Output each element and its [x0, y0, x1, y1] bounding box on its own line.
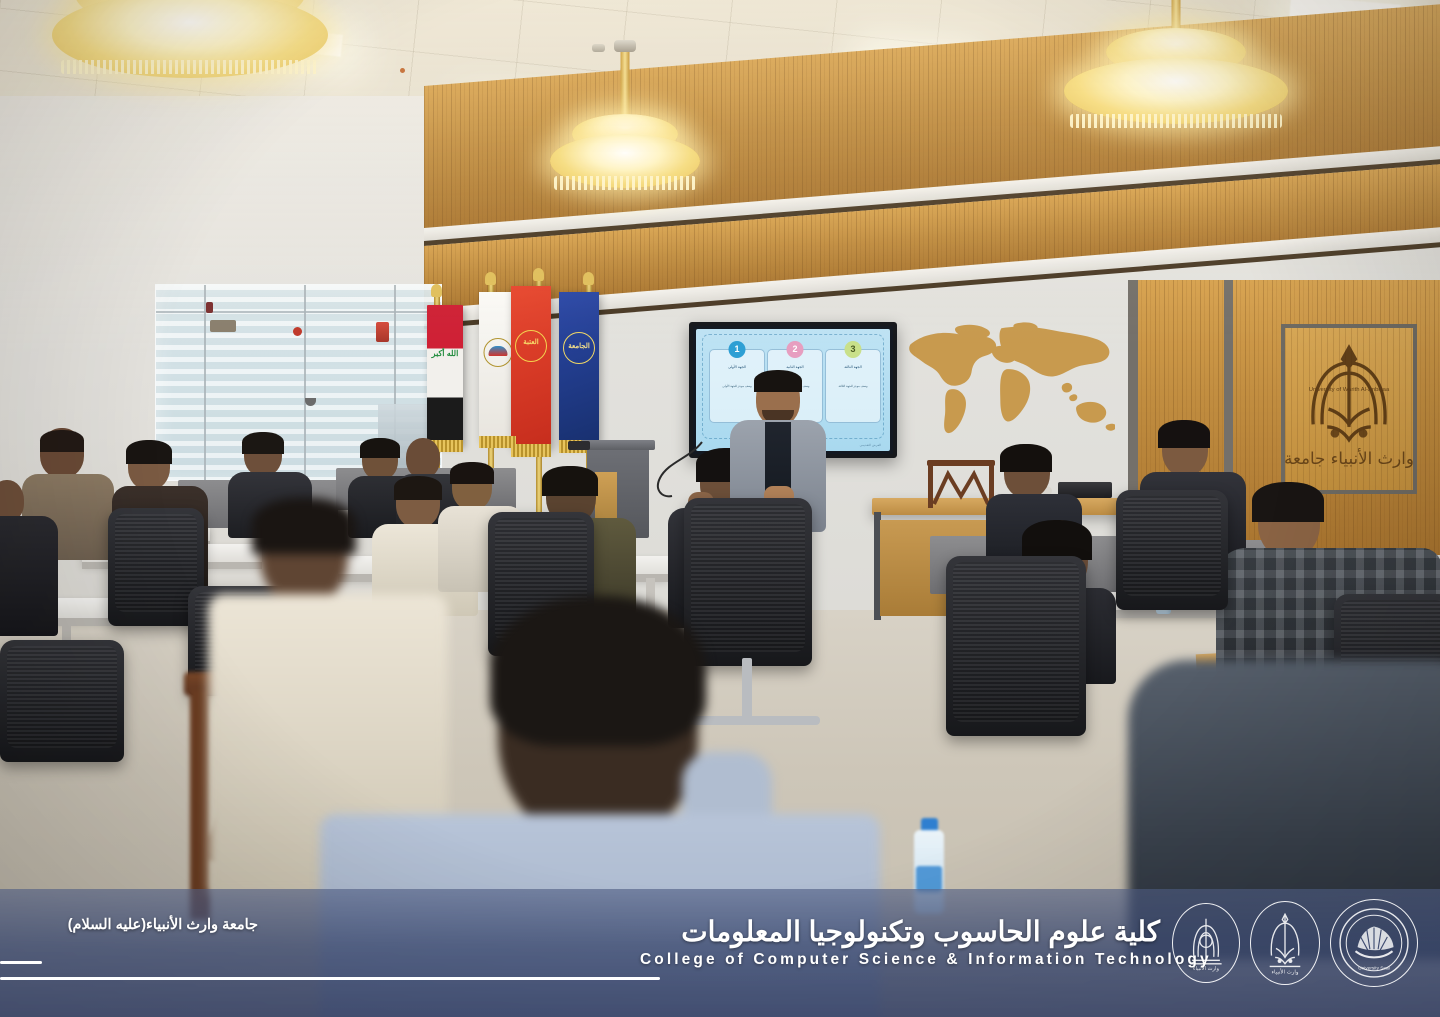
- wooden-chair-head-table: [927, 460, 995, 510]
- blue-university-flag: الجامعة: [559, 292, 599, 444]
- office-chair-left-2: [0, 640, 124, 762]
- flagpole-finial-white: [485, 272, 496, 285]
- chandelier-left: [40, 0, 340, 140]
- fire-alarm-bell-icon: [293, 327, 302, 336]
- chandelier-center: [520, 36, 730, 246]
- seal-2-label: وارث الأنبياء: [1272, 968, 1299, 976]
- slide-card-3-title: الجهة الثالثة: [829, 365, 877, 370]
- footer-banner: جامعة وارث الأنبياء(عليه السلام) كلية عل…: [0, 889, 1440, 1017]
- seal-2-icon: وارث الأنبياء: [1258, 910, 1312, 976]
- seal-1-label: وارث الأنبياء: [1193, 965, 1219, 972]
- smoke-detector-icon: [400, 68, 405, 73]
- fire-alarm-strobe-icon: [206, 302, 213, 313]
- wall-device-box: [210, 320, 236, 332]
- world-map-mural: [900, 322, 1115, 440]
- seal-3-icon: University Seal: [1337, 906, 1411, 980]
- college-name-english: College of Computer Science & Informatio…: [640, 951, 1160, 969]
- flagpole-finial-blue: [583, 272, 594, 285]
- university-emblem-panel: وارث الأنبياء جامعة University of Warith…: [1281, 324, 1417, 494]
- office-chair-right-2: [1116, 490, 1228, 610]
- seal-1-icon: وارث الأنبياء: [1180, 911, 1232, 975]
- glass-mullion-2: [304, 285, 306, 480]
- slide-card-1-title: الجهة الأولى: [713, 365, 761, 370]
- hair: [542, 466, 598, 496]
- office-chair-right-1: [946, 556, 1086, 736]
- hair: [1000, 444, 1052, 472]
- college-name-arabic: كلية علوم الحاسوب وتكنولوجيا المعلومات: [640, 915, 1160, 948]
- chandelier-right: [1026, 0, 1326, 190]
- slide-card-2-badge: 2: [787, 341, 804, 358]
- slide-footer-note: العرض التقديمي: [860, 443, 881, 447]
- chair-mesh: [1123, 496, 1221, 596]
- emblem-latin-text: University of Warith Al-Anbiyaa: [1309, 387, 1390, 393]
- footer-rule-left: [0, 961, 42, 964]
- hair: [252, 498, 356, 554]
- flagpole-finial-iraq: [431, 284, 442, 297]
- emblem-arabic-text: وارث الأنبياء جامعة: [1285, 448, 1413, 468]
- hair: [1158, 420, 1210, 448]
- glass-mullion-1: [204, 285, 206, 480]
- glass-transom-rail: [156, 311, 441, 313]
- footer-seal-2: وارث الأنبياء: [1250, 901, 1320, 985]
- chandelier-canopy: [614, 40, 636, 52]
- presenter-hair: [754, 370, 802, 392]
- hair: [242, 432, 284, 454]
- lectern-microphone-base: [568, 441, 590, 450]
- head: [406, 438, 440, 478]
- chair-mesh: [691, 504, 805, 652]
- seal-3-label: University Seal: [1358, 966, 1389, 972]
- slide-card-3-body: وصف موجز للجهة الثالثة: [829, 384, 877, 389]
- chair-mesh: [115, 514, 197, 612]
- slide-card-3: 3 الجهة الثالثة وصف موجز للجهة الثالثة: [825, 349, 881, 423]
- footer-seal-1: وارث الأنبياء: [1172, 903, 1240, 983]
- chair-mesh: [953, 562, 1079, 722]
- fire-extinguisher-sign-icon: [376, 322, 389, 342]
- hair: [450, 462, 494, 484]
- iraq-flag-motto: الله أكبر: [430, 349, 460, 358]
- red-organization-flag: العتبة: [511, 286, 551, 448]
- iraq-flag: الله أكبر: [427, 305, 463, 445]
- chair-mesh: [7, 646, 117, 748]
- lectern-top: [581, 440, 655, 450]
- footer-rule-center: [0, 977, 660, 980]
- university-name-arabic: جامعة وارث الأنبياء(عليه السلام): [8, 917, 258, 933]
- hair: [1252, 482, 1324, 522]
- lecture-hall-photo: وارث الأنبياء جامعة University of Warith…: [0, 0, 1440, 1017]
- office-chair-center-2: [684, 498, 812, 666]
- footer-seal-3: University Seal: [1330, 899, 1418, 987]
- slide-card-1-badge: 1: [729, 341, 746, 358]
- flag-fringe-red: [511, 444, 551, 457]
- slide-card-3-badge: 3: [845, 341, 862, 358]
- hair: [40, 430, 84, 452]
- hair: [360, 438, 400, 458]
- hair: [1022, 520, 1092, 560]
- chair-base-stem: [742, 658, 752, 724]
- hair: [490, 596, 706, 746]
- torso: [0, 516, 58, 636]
- hair: [394, 476, 442, 500]
- flagpole-finial-red: [533, 268, 544, 281]
- hair: [126, 440, 172, 464]
